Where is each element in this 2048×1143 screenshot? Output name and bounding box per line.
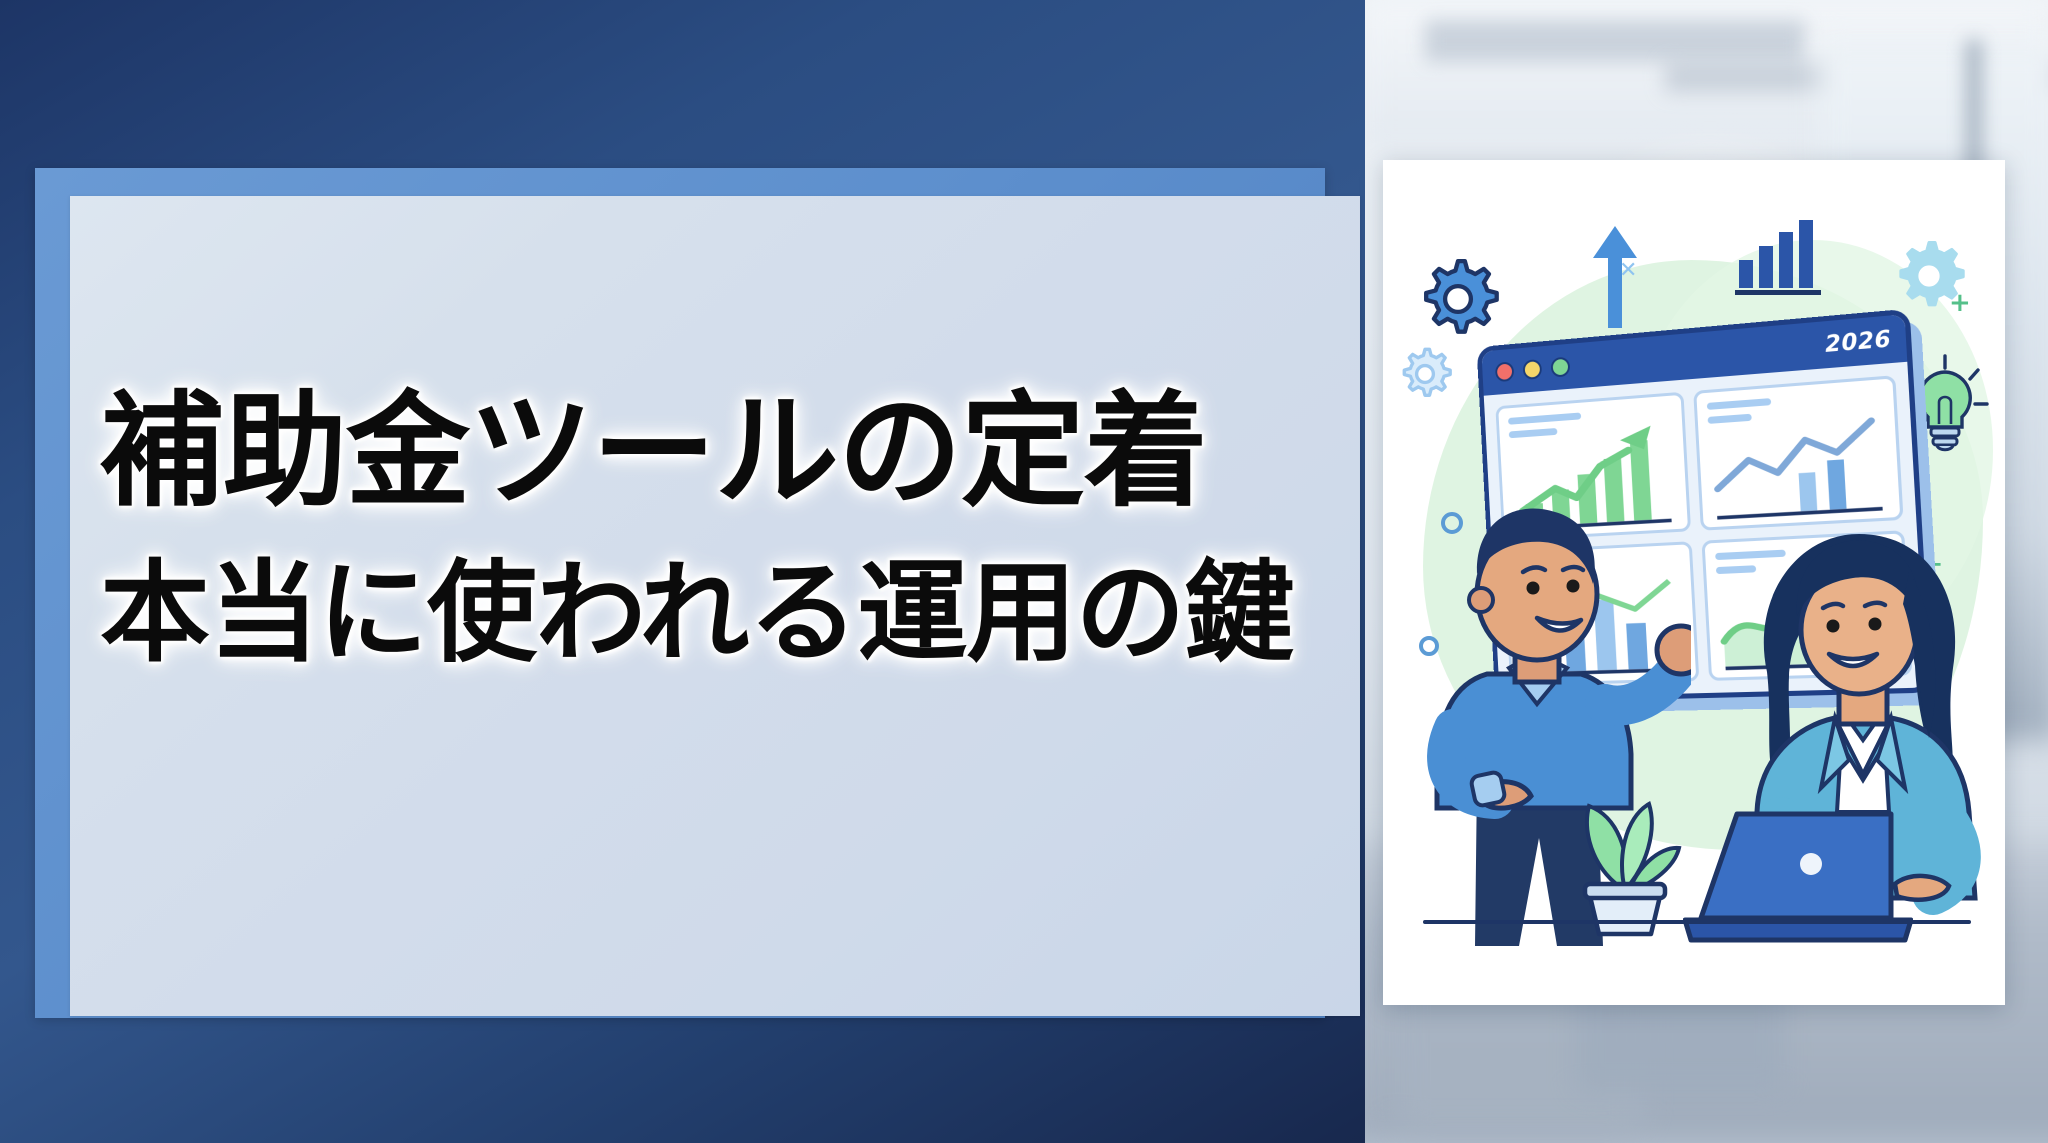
ground-line	[1423, 920, 1971, 924]
illustration-card: + + ✕	[1383, 160, 2005, 1005]
ceiling-beam	[1425, 20, 1805, 62]
x-mark-icon: ✕	[1619, 258, 1637, 283]
gear-icon-large	[1415, 256, 1501, 342]
gear-icon-small	[1397, 346, 1453, 402]
tile-line-chart	[1693, 375, 1903, 531]
minimize-dot-icon	[1523, 359, 1543, 380]
title-line-1: 補助金ツールの定着	[100, 390, 1350, 514]
year-label: 2026	[1824, 326, 1891, 357]
slide-canvas: 補助金ツールの定着 本当に使われる運用の鍵	[0, 0, 2048, 1143]
plus-icon: +	[1949, 288, 1971, 318]
close-dot-icon	[1495, 361, 1514, 382]
title-line-2: 本当に使われる運用の鍵	[100, 558, 1350, 668]
maximize-dot-icon	[1551, 357, 1571, 378]
potted-plant	[1559, 778, 1691, 942]
title-block: 補助金ツールの定着 本当に使われる運用の鍵	[100, 390, 1350, 668]
mini-bar-chart-icon	[1735, 218, 1821, 300]
laptop	[1683, 808, 1913, 952]
